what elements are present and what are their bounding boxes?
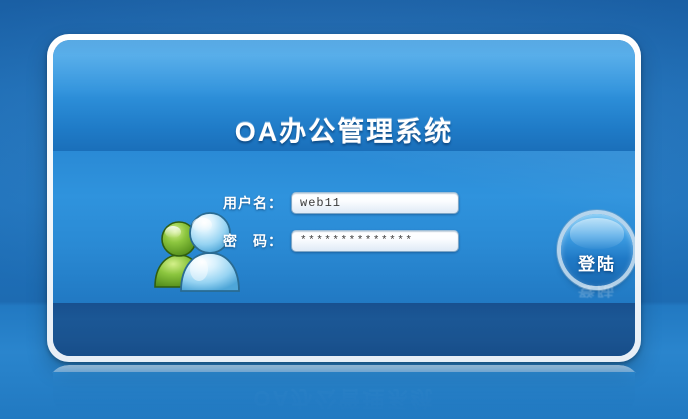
username-input[interactable] [291, 192, 459, 214]
login-button-group: 登陆 登陆 [557, 214, 635, 310]
username-row: 用户名： [223, 192, 459, 214]
password-input[interactable] [291, 230, 459, 252]
password-label: 密 码： [223, 231, 291, 251]
reflection-title: OA办公管理系统 [53, 384, 635, 416]
login-button-label: 登陆 [561, 250, 633, 275]
username-label: 用户名： [223, 193, 291, 213]
login-panel-frame: OA办公管理系统 [47, 34, 641, 362]
login-panel: OA办公管理系统 [53, 40, 635, 356]
panel-reflection: OA办公管理系统 [47, 365, 641, 419]
login-button[interactable]: 登陆 [561, 214, 633, 286]
reflection-body: OA办公管理系统 [53, 372, 635, 412]
panel-body-band [53, 151, 635, 303]
panel-footer-band [53, 303, 635, 356]
page-title: OA办公管理系统 [53, 110, 635, 149]
login-screen: OA办公管理系统 [0, 0, 688, 419]
password-row: 密 码： [223, 230, 459, 252]
reflection-frame [47, 365, 641, 373]
